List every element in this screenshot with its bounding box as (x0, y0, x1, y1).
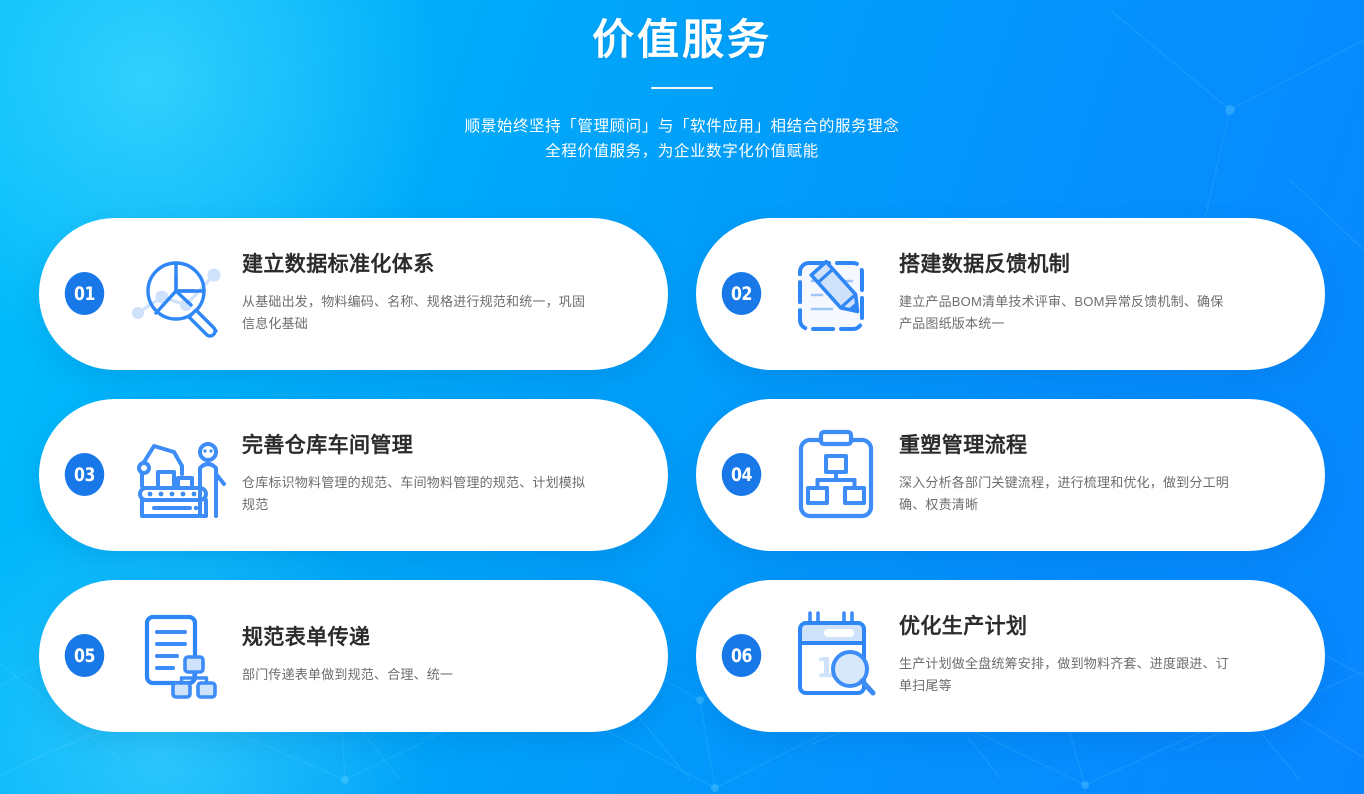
page-root: 价值服务 顺景始终坚持「管理顾问」与「软件应用」相结合的服务理念 全程价值服务，… (0, 0, 1364, 794)
pie-chart-magnifier-icon (124, 242, 236, 346)
card-title: 建立数据标准化体系 (242, 252, 622, 277)
card-number-badge: 04 (722, 453, 762, 496)
card-description: 仓库标识物料管理的规范、车间物料管理的规范、计划模拟规范 (242, 472, 587, 516)
card-text-block: 搭建数据反馈机制 建立产品BOM清单技术评审、BOM异常反馈机制、确保产品图纸版… (893, 252, 1325, 334)
page-title: 价值服务 (0, 14, 1364, 67)
card-number-badge: 01 (65, 272, 105, 315)
card-description: 深入分析各部门关键流程，进行梳理和优化，做到分工明确、权责清晰 (899, 472, 1234, 516)
card-title: 完善仓库车间管理 (242, 433, 622, 458)
card-number-badge: 02 (722, 272, 762, 315)
subtitle-line-1: 顺景始终坚持「管理顾问」与「软件应用」相结合的服务理念 (0, 114, 1364, 139)
card-text-block: 规范表单传递 部门传递表单做到规范、合理、统一 (236, 625, 668, 685)
page-header: 价值服务 顺景始终坚持「管理顾问」与「软件应用」相结合的服务理念 全程价值服务，… (0, 0, 1364, 164)
card-description: 从基础出发，物料编码、名称、规格进行规范和统一，巩固信息化基础 (242, 291, 587, 335)
clipboard-orgchart-icon (781, 423, 893, 527)
card-title: 重塑管理流程 (899, 433, 1279, 458)
card-text-block: 完善仓库车间管理 仓库标识物料管理的规范、车间物料管理的规范、计划模拟规范 (236, 433, 668, 515)
card-text-block: 重塑管理流程 深入分析各部门关键流程，进行梳理和优化，做到分工明确、权责清晰 (893, 433, 1325, 515)
card-description: 生产计划做全盘统筹安排，做到物料齐套、进度跟进、订单扫尾等 (899, 653, 1234, 697)
notepad-pencil-icon (781, 242, 893, 346)
card-title: 搭建数据反馈机制 (899, 252, 1279, 277)
card-title: 规范表单传递 (242, 625, 622, 650)
page-subtitle: 顺景始终坚持「管理顾问」与「软件应用」相结合的服务理念 全程价值服务，为企业数字… (0, 114, 1364, 164)
title-divider (651, 87, 713, 89)
service-card-grid: 01 (39, 218, 1325, 732)
card-text-block: 建立数据标准化体系 从基础出发，物料编码、名称、规格进行规范和统一，巩固信息化基… (236, 252, 668, 334)
card-number-badge: 05 (65, 634, 105, 677)
service-card-02[interactable]: 02 搭建数据反馈机制 (696, 218, 1325, 370)
factory-worker-conveyor-icon (124, 423, 236, 527)
calendar-magnifier-icon: 11 (781, 604, 893, 708)
service-card-06[interactable]: 06 11 优化生产计划 生产计划做全盘统筹安排，做到物料齐套、 (696, 580, 1325, 732)
document-flow-icon (124, 604, 236, 708)
card-description: 建立产品BOM清单技术评审、BOM异常反馈机制、确保产品图纸版本统一 (899, 291, 1234, 335)
card-description: 部门传递表单做到规范、合理、统一 (242, 664, 587, 686)
card-title: 优化生产计划 (899, 614, 1279, 639)
card-number-badge: 03 (65, 453, 105, 496)
service-card-01[interactable]: 01 (39, 218, 668, 370)
subtitle-line-2: 全程价值服务，为企业数字化价值赋能 (0, 139, 1364, 164)
service-card-03[interactable]: 03 (39, 399, 668, 551)
service-card-05[interactable]: 05 (39, 580, 668, 732)
card-number-badge: 06 (722, 634, 762, 677)
card-text-block: 优化生产计划 生产计划做全盘统筹安排，做到物料齐套、进度跟进、订单扫尾等 (893, 614, 1325, 696)
service-card-04[interactable]: 04 重塑管理流程 (696, 399, 1325, 551)
